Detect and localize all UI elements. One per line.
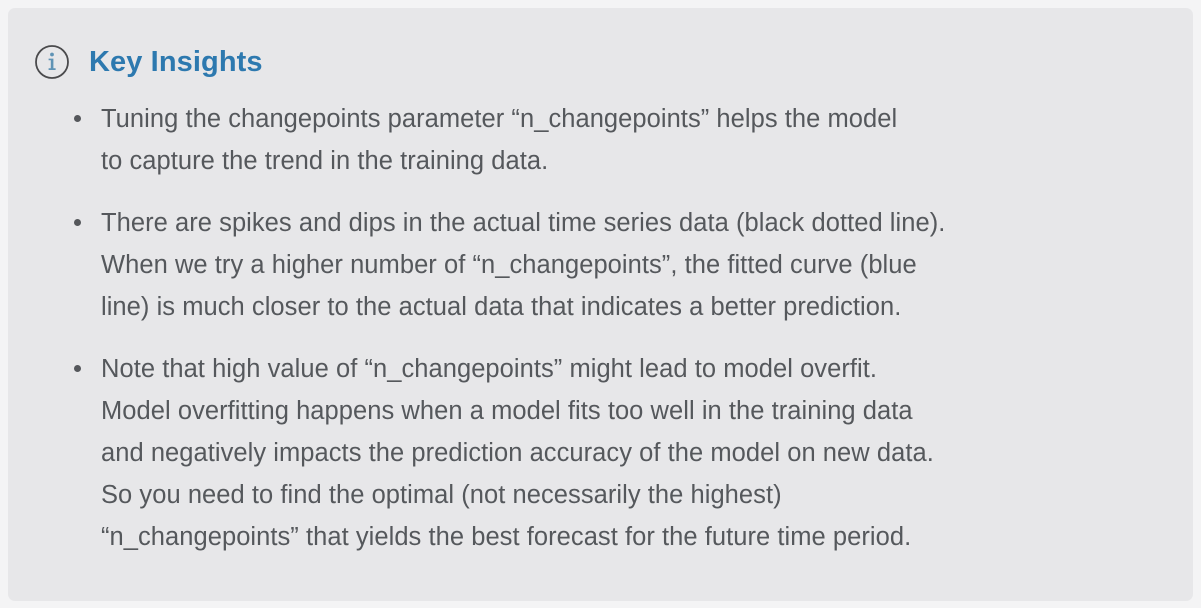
info-circle-icon	[34, 44, 70, 80]
bullet-icon	[74, 365, 81, 372]
key-insights-card: Key Insights Tuning the changepoints par…	[8, 8, 1193, 601]
insight-text: Tuning the changepoints parameter “n_cha…	[101, 98, 1153, 182]
bullet-icon	[74, 115, 81, 122]
insight-text: There are spikes and dips in the actual …	[101, 202, 1153, 328]
insight-text: Note that high value of “n_changepoints”…	[101, 348, 1153, 558]
card-header: Key Insights	[8, 8, 1193, 80]
list-item: Tuning the changepoints parameter “n_cha…	[8, 98, 1193, 182]
page-title: Key Insights	[89, 48, 263, 77]
list-item: Note that high value of “n_changepoints”…	[8, 348, 1193, 558]
list-item: There are spikes and dips in the actual …	[8, 202, 1193, 328]
insights-list: Tuning the changepoints parameter “n_cha…	[8, 98, 1193, 558]
bullet-icon	[74, 219, 81, 226]
